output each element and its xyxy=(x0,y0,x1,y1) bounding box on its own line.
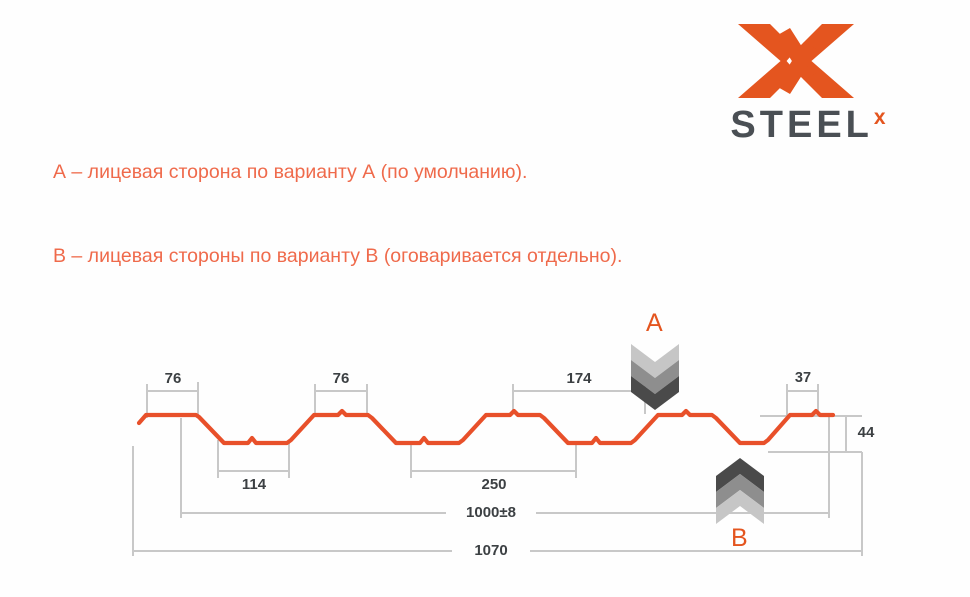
dim-height-44: 44 xyxy=(846,424,886,441)
dim-overall-width: 1070 xyxy=(452,542,530,559)
marker-letter-a: А xyxy=(646,309,663,338)
dim-pitch-174: 174 xyxy=(544,370,614,387)
dim-crest-edge-37: 37 xyxy=(787,370,819,386)
dim-working-width: 1000±8 xyxy=(446,504,536,521)
marker-letter-b: В xyxy=(731,524,748,553)
dim-valley-width-114: 114 xyxy=(227,476,281,493)
dim-crest-width-mid: 76 xyxy=(316,370,366,387)
profile-drawing-page: STEEL x А – лицевая сторона по варианту … xyxy=(0,0,970,597)
chevron-down-triple-icon xyxy=(631,344,679,410)
chevron-up-triple-icon xyxy=(716,458,764,524)
dim-crest-width-left: 76 xyxy=(148,370,198,387)
dim-pitch-250: 250 xyxy=(466,476,522,493)
corrugated-profile-line xyxy=(139,411,833,443)
